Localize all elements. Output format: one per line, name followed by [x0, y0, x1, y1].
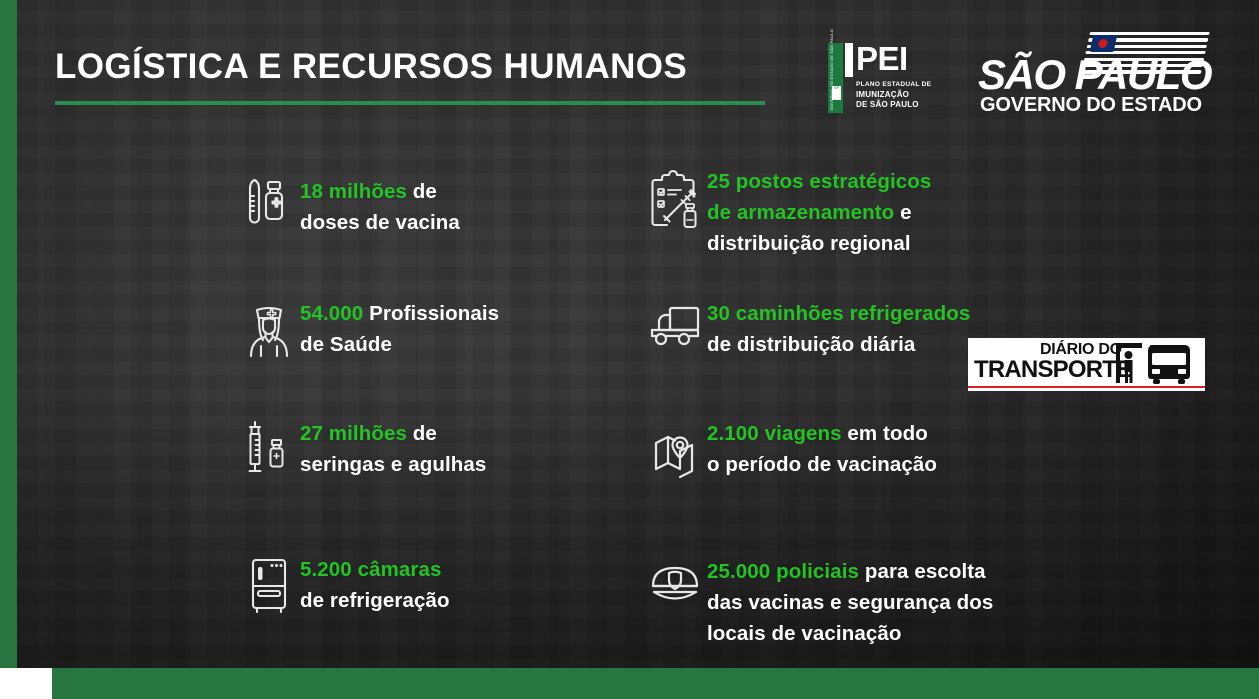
- stat-doses-line2: doses de vacina: [300, 207, 460, 238]
- stat-syringes-rest: de: [407, 422, 437, 445]
- pei-subtitle-line1: PLANO ESTADUAL DE: [856, 80, 940, 90]
- stat-item-trips: 2.100 viagens em todo o período de vacin…: [645, 418, 937, 480]
- nurse-icon: [238, 298, 300, 364]
- pei-green-bar: SP GOVERNO DO ESTADO DE SÃO PAULO: [828, 43, 843, 113]
- stat-storage-posts-rest2: e: [894, 201, 911, 224]
- stat-police-line2: das vacinas e segurança dos: [707, 587, 993, 618]
- stat-professionals-line2: de Saúde: [300, 329, 499, 360]
- clipboard-syringe-vial-icon: [645, 166, 707, 244]
- diario-do-transporte-watermark: DIÁRIO DO TRANSPORTE: [968, 338, 1205, 391]
- bottom-left-white-block: [0, 668, 52, 699]
- stat-item-professionals: 54.000 Profissionais de Saúde: [238, 298, 499, 364]
- stat-storage-posts-line3: distribuição regional: [707, 228, 931, 259]
- bus-stop-and-bus-icon: [1112, 341, 1200, 390]
- stat-item-syringes: 27 milhões de seringas e agulhas: [238, 418, 486, 484]
- stat-storage-posts-line2: de armazenamento e: [707, 197, 931, 228]
- stat-cold-chambers-line2: de refrigeração: [300, 585, 450, 616]
- stat-trucks-text: 30 caminhões refrigerados de distribuiçã…: [707, 298, 970, 360]
- stat-trucks-line2: de distribuição diária: [707, 329, 970, 360]
- page-title: LOGÍSTICA E RECURSOS HUMANOS: [55, 47, 687, 87]
- pei-acronym-row: PEI: [845, 43, 940, 77]
- stat-item-police: 25.000 policiais para escolta das vacina…: [645, 556, 993, 649]
- stat-doses-highlight: 18 milhões: [300, 180, 407, 203]
- watermark-line2: TRANSPORTE: [974, 356, 1131, 384]
- police-cap-icon: [645, 556, 707, 624]
- pei-vertical-text: GOVERNO DO ESTADO DE SÃO PAULO: [829, 29, 834, 110]
- pei-subtitle-line2: IMUNIZAÇÃO: [856, 90, 940, 100]
- presentation-slide: LOGÍSTICA E RECURSOS HUMANOS SP GOVERNO …: [0, 0, 1259, 699]
- stat-police-highlight: 25.000 policiais: [707, 560, 859, 583]
- stat-storage-posts-line1: 25 postos estratégicos: [707, 166, 931, 197]
- pei-subtitle-block: PLANO ESTADUAL DE IMUNIZAÇÃO DE SÃO PAUL…: [856, 80, 940, 110]
- stat-police-rest: para escolta: [859, 560, 986, 583]
- stat-professionals-line1: 54.000 Profissionais: [300, 298, 499, 329]
- stat-trips-line2: o período de vacinação: [707, 449, 937, 480]
- sao-paulo-government-logo: SÃO PAULO GOVERNO DO ESTADO: [978, 32, 1213, 112]
- watermark-red-rule: [968, 386, 1205, 389]
- stat-item-cold-chambers: 5.200 câmaras de refrigeração: [238, 554, 450, 620]
- stat-item-doses: 18 milhões de doses de vacina: [238, 176, 460, 242]
- stat-police-line3: locais de vacinação: [707, 618, 993, 649]
- stat-storage-posts-text: 25 postos estratégicos de armazenamento …: [707, 166, 931, 259]
- bottom-green-accent-bar: [52, 668, 1259, 699]
- stat-item-trucks: 30 caminhões refrigerados de distribuiçã…: [645, 298, 970, 360]
- pei-logo: SP GOVERNO DO ESTADO DE SÃO PAULO PEI PL…: [828, 43, 940, 113]
- stat-trucks-line1: 30 caminhões refrigerados: [707, 298, 970, 329]
- stat-syringes-line1: 27 milhões de: [300, 418, 486, 449]
- stat-doses-rest: de: [407, 180, 437, 203]
- stat-trips-text: 2.100 viagens em todo o período de vacin…: [707, 418, 937, 480]
- stat-syringes-highlight: 27 milhões: [300, 422, 407, 445]
- pei-subtitle-line3: DE SÃO PAULO: [856, 100, 940, 110]
- pei-acronym: PEI: [856, 43, 908, 74]
- stat-syringes-line2: seringas e agulhas: [300, 449, 486, 480]
- refrigerated-truck-icon: [645, 298, 707, 360]
- stat-police-line1: 25.000 policiais para escolta: [707, 556, 993, 587]
- pei-logo-text-block: PEI PLANO ESTADUAL DE IMUNIZAÇÃO DE SÃO …: [845, 43, 940, 110]
- stat-trips-rest: em todo: [842, 422, 928, 445]
- left-green-accent-bar: [0, 0, 17, 668]
- stat-professionals-highlight: 54.000: [300, 302, 363, 325]
- sao-paulo-subtitle: GOVERNO DO ESTADO: [980, 94, 1202, 117]
- stat-professionals-text: 54.000 Profissionais de Saúde: [300, 298, 499, 360]
- stat-professionals-rest: Profissionais: [363, 302, 499, 325]
- title-underline-rule: [55, 101, 765, 105]
- pei-tick-bar: [845, 43, 853, 77]
- vaccine-ampoule-vial-icon: [238, 176, 300, 242]
- stat-trips-highlight: 2.100 viagens: [707, 422, 842, 445]
- stat-doses-line1: 18 milhões de: [300, 176, 460, 207]
- map-pin-icon: [645, 418, 707, 480]
- stat-cold-chambers-text: 5.200 câmaras de refrigeração: [300, 554, 450, 616]
- stat-item-storage-posts: 25 postos estratégicos de armazenamento …: [645, 166, 931, 259]
- sao-paulo-title: SÃO PAULO: [978, 54, 1211, 96]
- stat-storage-posts-highlight2: de armazenamento: [707, 201, 894, 224]
- stat-cold-chambers-highlight: 5.200 câmaras: [300, 558, 442, 581]
- stat-cold-chambers-line1: 5.200 câmaras: [300, 554, 450, 585]
- stat-syringes-text: 27 milhões de seringas e agulhas: [300, 418, 486, 480]
- refrigerator-icon: [238, 554, 300, 620]
- stat-police-text: 25.000 policiais para escolta das vacina…: [707, 556, 993, 649]
- syringe-vial-icon: [238, 418, 300, 484]
- stat-doses-text: 18 milhões de doses de vacina: [300, 176, 460, 238]
- stat-trips-line1: 2.100 viagens em todo: [707, 418, 937, 449]
